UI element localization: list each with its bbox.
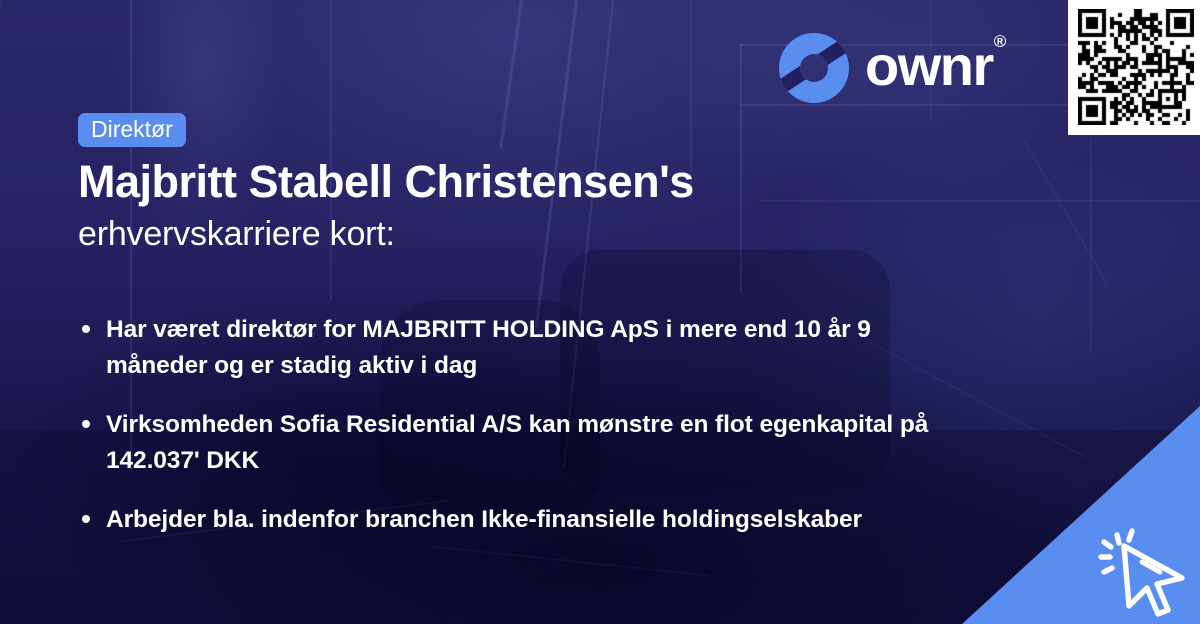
ownr-circle-swirl-icon: [779, 33, 849, 103]
list-item: Virksomheden Sofia Residential A/S kan m…: [78, 407, 958, 479]
business-card-banner: ownr® Direktør Majbritt Stabell Christen…: [0, 0, 1200, 624]
list-item: Har været direktør for MAJBRITT HOLDING …: [78, 312, 958, 384]
ownr-wordmark: ownr®: [865, 38, 1005, 94]
qr-code[interactable]: [1078, 9, 1194, 125]
badge-label: Direktør: [91, 116, 173, 142]
list-item-text: Arbejder bla. indenfor branchen Ikke-fin…: [106, 506, 862, 533]
qr-code-panel[interactable]: [1068, 0, 1200, 135]
ownr-wordmark-text: ownr: [865, 34, 993, 97]
status-badge: Direktør: [78, 113, 186, 147]
bullet-dot-icon: [82, 420, 90, 428]
list-item-text: Har været direktør for MAJBRITT HOLDING …: [106, 316, 871, 379]
list-item-text: Virksomheden Sofia Residential A/S kan m…: [106, 411, 928, 474]
ownr-logo[interactable]: ownr®: [779, 32, 1005, 104]
page-title: Majbritt Stabell Christensen's: [78, 158, 978, 207]
click-cursor-icon: [1098, 522, 1194, 618]
page-subtitle: erhvervskarriere kort:: [78, 216, 978, 253]
registered-trademark-icon: ®: [994, 32, 1007, 51]
highlights-list: Har været direktør for MAJBRITT HOLDING …: [78, 312, 958, 538]
list-item: Arbejder bla. indenfor branchen Ikke-fin…: [78, 502, 958, 538]
bullet-dot-icon: [82, 515, 90, 523]
bullet-dot-icon: [82, 325, 90, 333]
